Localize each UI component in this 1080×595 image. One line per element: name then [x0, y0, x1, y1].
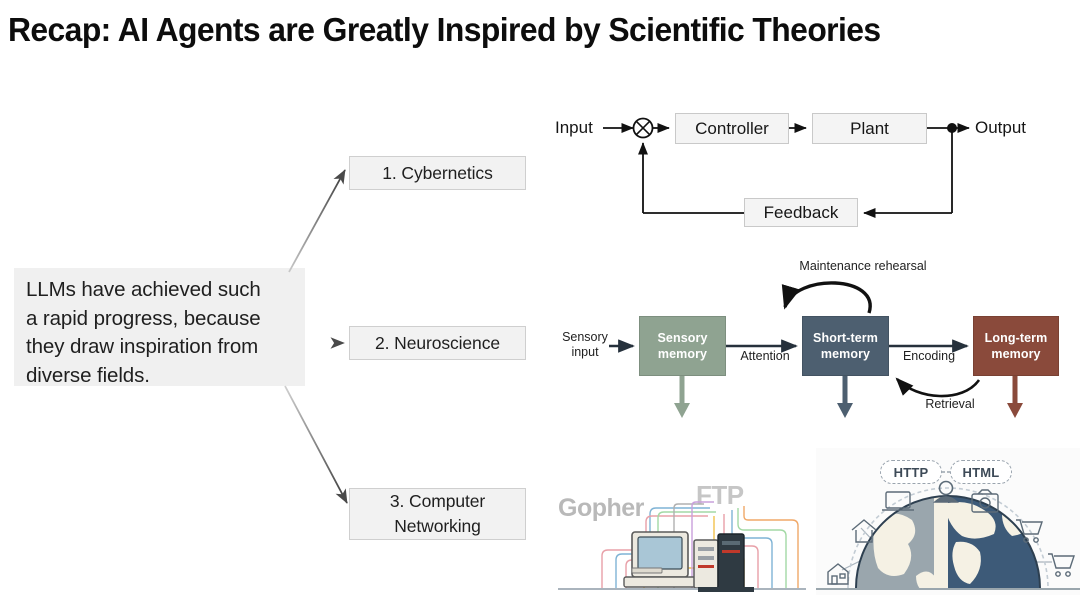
cybernetics-feedback-block: Feedback: [744, 198, 858, 227]
label-line: Sensory: [549, 330, 621, 345]
label-line: input: [549, 345, 621, 360]
memory-sensory-input-label: Sensory input: [549, 330, 621, 360]
memory-short-term-box: Short-term memory: [802, 316, 889, 376]
box-line: Short-term: [813, 330, 878, 346]
globe-and-device-icons: [816, 448, 1080, 595]
shopping-cart-icon: [1048, 554, 1074, 576]
figure-cybernetics-block-diagram: Input Controller Plant Feedback Output: [545, 100, 1080, 240]
cybernetics-plant-block: Plant: [812, 113, 927, 144]
topic-box-neuroscience[interactable]: 2. Neuroscience: [349, 326, 526, 360]
box-line: Sensory: [657, 330, 707, 346]
figure-world-wide-web: HTTP HTML: [816, 448, 1080, 595]
retro-computer-illustration: [548, 448, 816, 595]
box-line: memory: [658, 346, 707, 362]
memory-maintenance-rehearsal-label: Maintenance rehearsal: [773, 259, 953, 274]
box-line: Long-term: [985, 330, 1048, 346]
premise-box: LLMs have achieved such a rapid progress…: [14, 268, 305, 386]
user-icon: [935, 482, 957, 503]
topic-label-line: Networking: [394, 516, 481, 536]
topic-label: 1. Cybernetics: [382, 161, 492, 186]
house-icon: [828, 564, 848, 584]
cybernetics-input-label: Input: [555, 118, 593, 138]
memory-long-term-box: Long-term memory: [973, 316, 1059, 376]
memory-sensory-box: Sensory memory: [639, 316, 726, 376]
retrieval-loop: [897, 379, 979, 396]
arrow-to-cybernetics: [289, 170, 345, 272]
topic-box-computer-networking[interactable]: 3. Computer Networking: [349, 488, 526, 540]
box-line: memory: [821, 346, 870, 362]
premise-line: LLMs have achieved such: [26, 276, 295, 305]
cybernetics-output-label: Output: [975, 118, 1026, 138]
figure-legacy-protocols: Gopher FTP: [548, 448, 816, 595]
premise-line: they draw inspiration from: [26, 333, 295, 362]
topic-label-line: 3. Computer: [390, 491, 485, 511]
topic-box-cybernetics[interactable]: 1. Cybernetics: [349, 156, 526, 190]
topic-label: 3. Computer Networking: [390, 489, 485, 539]
slide-canvas: Recap: AI Agents are Greatly Inspired by…: [0, 0, 1080, 595]
cybernetics-controller-block: Controller: [675, 113, 789, 144]
laptop-icon: [882, 492, 914, 510]
page-title: Recap: AI Agents are Greatly Inspired by…: [8, 8, 1035, 52]
arrow-to-networking: [285, 386, 347, 503]
memory-retrieval-label: Retrieval: [915, 397, 985, 412]
premise-line: a rapid progress, because: [26, 305, 295, 334]
memory-encoding-label: Encoding: [895, 349, 963, 364]
memory-attention-label: Attention: [731, 349, 799, 364]
maintenance-rehearsal-loop: [785, 283, 870, 313]
topic-label: 2. Neuroscience: [375, 331, 500, 356]
figure-memory-model: Sensory input Sensory memory Short-term …: [545, 255, 1080, 430]
premise-text: LLMs have achieved such a rapid progress…: [26, 276, 295, 390]
premise-line: diverse fields.: [26, 362, 295, 391]
box-line: memory: [991, 346, 1040, 362]
